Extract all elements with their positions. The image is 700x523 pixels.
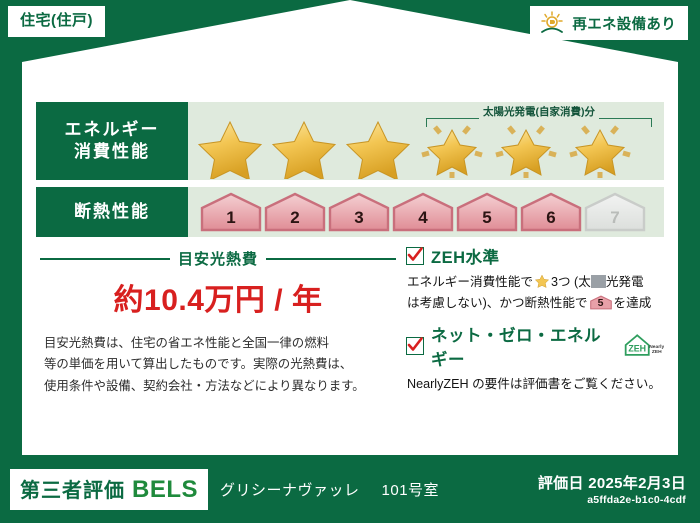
insulation-level-badge: 5	[456, 192, 518, 232]
energy-performance-body: 太陽光発電(自家消費)分	[188, 102, 664, 180]
zeh-desc-line2-part-2: を達成	[614, 296, 652, 310]
redacted-block	[591, 275, 606, 288]
insulation-level-number: 1	[200, 208, 262, 228]
insulation-level-badge: 1	[200, 192, 262, 232]
svg-text:ZEH: ZEH	[652, 349, 662, 355]
star-icon	[342, 117, 414, 179]
net-zero-description: NearlyZEH の要件は評価書をご覧ください。	[406, 374, 664, 395]
insulation-level-number: 5	[456, 208, 518, 228]
zeh-desc-line2-part-1: は考慮しない)、かつ断熱性能で	[407, 296, 588, 310]
star-icon	[194, 117, 266, 179]
zeh-logo-icon: ZEH Nearly ZEH	[623, 331, 664, 361]
zeh-desc-part-2: 3つ (太	[551, 275, 591, 289]
insulation-performance-body: 1 2 3	[188, 187, 664, 237]
net-zero-checkbox[interactable]	[406, 337, 424, 355]
check-icon	[406, 336, 424, 354]
cost-disclaimer-line-1: 目安光熱費は、住宅の省エネ性能と全国一律の燃料	[44, 333, 392, 354]
energy-performance-row: エネルギー 消費性能 太陽光発電(自家消費)分	[36, 102, 664, 180]
insulation-level-number: 3	[328, 208, 390, 228]
renewable-equipment-badge: 再エネ設備あり	[530, 6, 688, 40]
insulation-level-badge: 3	[328, 192, 390, 232]
property-name: グリシーナヴァッレ	[220, 479, 360, 500]
bels-tag-en: BELS	[132, 476, 198, 504]
svg-text:ZEH: ZEH	[628, 343, 646, 353]
room-number: 101号室	[382, 479, 440, 500]
energy-performance-label: エネルギー 消費性能	[36, 102, 188, 180]
insulation-level-number: 6	[520, 208, 582, 228]
insulation-level-number: 2	[264, 208, 326, 228]
energy-stars-group	[194, 103, 636, 179]
insulation-level-badge: 6	[520, 192, 582, 232]
evaluation-date: 評価日 2025年2月3日	[538, 472, 686, 493]
document-type-tag: 住宅(住戸)	[8, 6, 105, 37]
bels-certification-tag: 第三者評価 BELS	[10, 469, 208, 510]
energy-performance-label-line1: エネルギー	[65, 119, 160, 141]
inline-star-icon	[534, 274, 550, 289]
zeh-standard-checkbox[interactable]	[406, 247, 424, 265]
certification-section: ZEH水準 エネルギー消費性能で 3つ (太光発電 は考慮しない)、かつ断熱性能…	[396, 244, 664, 403]
check-icon	[406, 246, 424, 264]
renewable-badge-label: 再エネ設備あり	[572, 13, 676, 34]
insulation-performance-label: 断熱性能	[36, 187, 188, 237]
footer-meta: 評価日 2025年2月3日 a5ffda2e-b1c0-4cdf	[538, 472, 686, 506]
title-main: 省エネ性能ラベル	[0, 38, 700, 77]
lower-section: 目安光熱費 約10.4万円 / 年 目安光熱費は、住宅の省エネ性能と全国一律の燃…	[36, 244, 664, 403]
net-zero-title: ネット・ゼロ・エネルギー	[431, 322, 612, 370]
cost-disclaimer-line-3: 使用条件や設備、契約会社・方法などにより異なります。	[44, 376, 392, 397]
net-zero-title-row: ネット・ゼロ・エネルギー ZEH Nearly ZEH	[406, 322, 664, 370]
zeh-standard-block: ZEH水準 エネルギー消費性能で 3つ (太光発電 は考慮しない)、かつ断熱性能…	[406, 244, 664, 314]
bels-tag-jp: 第三者評価	[20, 474, 125, 503]
solar-star-icon	[416, 117, 488, 179]
insulation-level-number: 4	[392, 208, 454, 228]
solar-star-icon	[490, 117, 562, 179]
energy-performance-label-line2: 消費性能	[74, 141, 150, 163]
evaluation-id: a5ffda2e-b1c0-4cdf	[538, 494, 686, 506]
insulation-level-badge: 4	[392, 192, 454, 232]
inline-house-level: 5	[590, 295, 612, 310]
solar-sun-icon	[539, 11, 565, 35]
footer-bar: 第三者評価 BELS グリシーナヴァッレ 101号室 評価日 2025年2月3日…	[0, 455, 700, 523]
zeh-desc-part-1: エネルギー消費性能で	[407, 275, 533, 289]
zeh-standard-title-row: ZEH水準	[406, 244, 664, 268]
insulation-level-number: 7	[584, 208, 646, 228]
insulation-level-scale: 1 2 3	[194, 192, 646, 232]
insulation-level-badge: 2	[264, 192, 326, 232]
cost-heading-rule-left	[40, 258, 170, 260]
cost-disclaimer: 目安光熱費は、住宅の省エネ性能と全国一律の燃料 等の単価を用いて算出したものです…	[40, 333, 396, 397]
insulation-performance-row: 断熱性能	[36, 187, 664, 237]
zeh-standard-description: エネルギー消費性能で 3つ (太光発電 は考慮しない)、かつ断熱性能で 5 を達…	[406, 272, 664, 314]
bels-energy-label: 住宅(住戸) 再エネ設備あり 建築物省エネ法に基づく 省エネ性能ラベル	[0, 0, 700, 523]
net-zero-energy-block: ネット・ゼロ・エネルギー ZEH Nearly ZEH NearlyZEH の要…	[406, 322, 664, 395]
svg-text:Nearly: Nearly	[649, 344, 664, 350]
solar-star-icon	[564, 117, 636, 179]
star-icon	[268, 117, 340, 179]
insulation-level-badge: 7	[584, 192, 646, 232]
main-panel: エネルギー 消費性能 太陽光発電(自家消費)分	[22, 92, 678, 455]
cost-heading-label: 目安光熱費	[178, 248, 258, 269]
cost-disclaimer-line-2: 等の単価を用いて算出したものです。実際の光熱費は、	[44, 354, 392, 375]
cost-heading-rule-right	[266, 258, 396, 260]
zeh-desc-part-3: 光発電	[606, 275, 644, 289]
cost-section: 目安光熱費 約10.4万円 / 年 目安光熱費は、住宅の省エネ性能と全国一律の燃…	[36, 244, 396, 403]
zeh-standard-title: ZEH水準	[431, 244, 500, 268]
inline-house-badge: 5	[590, 295, 612, 310]
cost-heading: 目安光熱費	[40, 248, 396, 269]
cost-value: 約10.4万円 / 年	[40, 275, 396, 319]
